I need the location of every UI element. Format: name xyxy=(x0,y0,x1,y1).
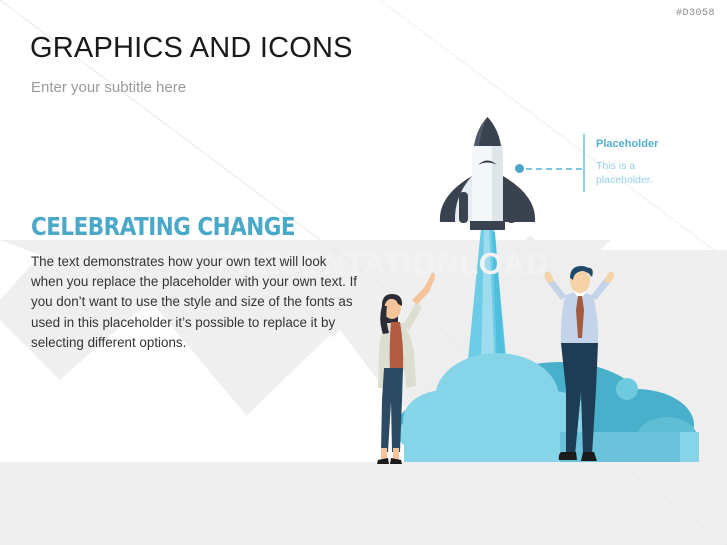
woman-ankle-right xyxy=(393,448,399,460)
page-title: GRAPHICS AND ICONS xyxy=(30,32,353,65)
sheen-line-2 xyxy=(380,0,727,260)
page-subtitle[interactable]: Enter your subtitle here xyxy=(31,79,186,96)
rocket-engine xyxy=(470,221,505,230)
body-paragraph: The text demonstrates how your own text … xyxy=(31,252,361,353)
callout-title[interactable]: Placeholder xyxy=(596,138,658,150)
callout-connector-line xyxy=(526,168,582,170)
callout-anchor-dot-icon xyxy=(515,164,524,173)
woman-pants xyxy=(381,368,403,452)
woman-ankle-left xyxy=(381,448,387,460)
callout-body-text: This is a placeholder. xyxy=(596,160,681,187)
rocket-booster-right xyxy=(507,192,516,223)
rocket xyxy=(440,117,535,230)
lower-grey-field xyxy=(0,462,727,545)
document-id-label: #D3058 xyxy=(676,8,715,19)
cloud-base-strip-dark xyxy=(560,432,680,462)
accent-circle xyxy=(616,378,638,400)
rocket-booster-left xyxy=(459,192,468,223)
slide-canvas: PRESENTATIONLOAD #D3058 GRAPHICS AND ICO… xyxy=(0,0,727,545)
section-heading: CELEBRATING CHANGE xyxy=(31,212,295,241)
body-text-block[interactable]: The text demonstrates how your own text … xyxy=(31,252,361,353)
callout-accent-bar xyxy=(583,134,585,192)
callout-body[interactable]: This is a placeholder. xyxy=(596,160,681,187)
man-shoe-left xyxy=(559,452,577,460)
